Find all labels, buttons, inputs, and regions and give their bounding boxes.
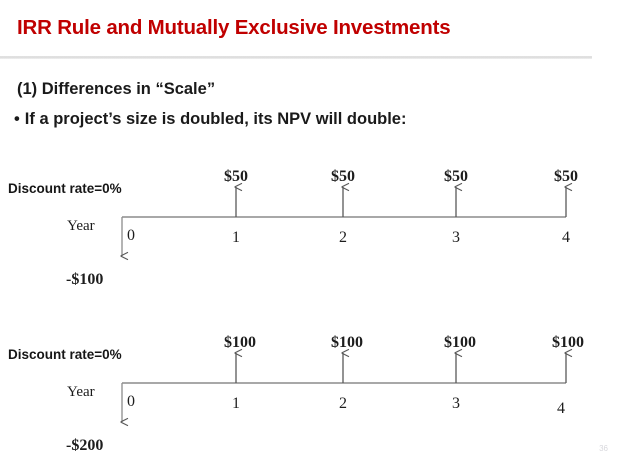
timeline-project-b: Discount rate=0% Year $100 $100 $100 $10… (0, 326, 620, 456)
cash-flow-label-a-2: $50 (331, 168, 355, 186)
bullet-point-icon: • (14, 110, 20, 129)
year-tick-b-2: 2 (339, 395, 347, 413)
page-number: 36 (599, 444, 608, 453)
timeline-project-a: Discount rate=0% Year $50 $50 $50 $50 0 … (0, 160, 620, 290)
slide: IRR Rule and Mutually Exclusive Investme… (0, 0, 620, 457)
year-tick-b-3: 3 (452, 395, 460, 413)
year-tick-b-1: 1 (232, 395, 240, 413)
initial-outlay-label-b: -$200 (66, 437, 103, 455)
initial-outlay-label-a: -$100 (66, 271, 103, 289)
year-tick-a-0: 0 (127, 227, 135, 245)
cash-flow-label-b-2: $100 (331, 334, 363, 352)
year-tick-a-4: 4 (562, 229, 570, 247)
year-tick-b-0: 0 (127, 393, 135, 411)
cash-flow-label-b-1: $100 (224, 334, 256, 352)
cash-flow-label-a-1: $50 (224, 168, 248, 186)
year-axis-label-b: Year (67, 384, 95, 401)
year-tick-a-2: 2 (339, 229, 347, 247)
year-axis-label-a: Year (67, 218, 95, 235)
cash-flow-label-b-3: $100 (444, 334, 476, 352)
cash-flow-label-a-3: $50 (444, 168, 468, 186)
year-tick-a-1: 1 (232, 229, 240, 247)
title-divider (0, 56, 592, 59)
bullet-item-text: If a project’s size is doubled, its NPV … (25, 110, 407, 128)
discount-rate-label-a: Discount rate=0% (8, 181, 122, 196)
section-subheading: (1) Differences in “Scale” (17, 80, 215, 99)
page-title: IRR Rule and Mutually Exclusive Investme… (17, 16, 450, 40)
bullet-item: •If a project’s size is doubled, its NPV… (14, 110, 406, 129)
year-tick-a-3: 3 (452, 229, 460, 247)
discount-rate-label-b: Discount rate=0% (8, 347, 122, 362)
cash-flow-label-b-4: $100 (552, 334, 584, 352)
cash-flow-label-a-4: $50 (554, 168, 578, 186)
year-tick-b-4: 4 (557, 400, 565, 418)
